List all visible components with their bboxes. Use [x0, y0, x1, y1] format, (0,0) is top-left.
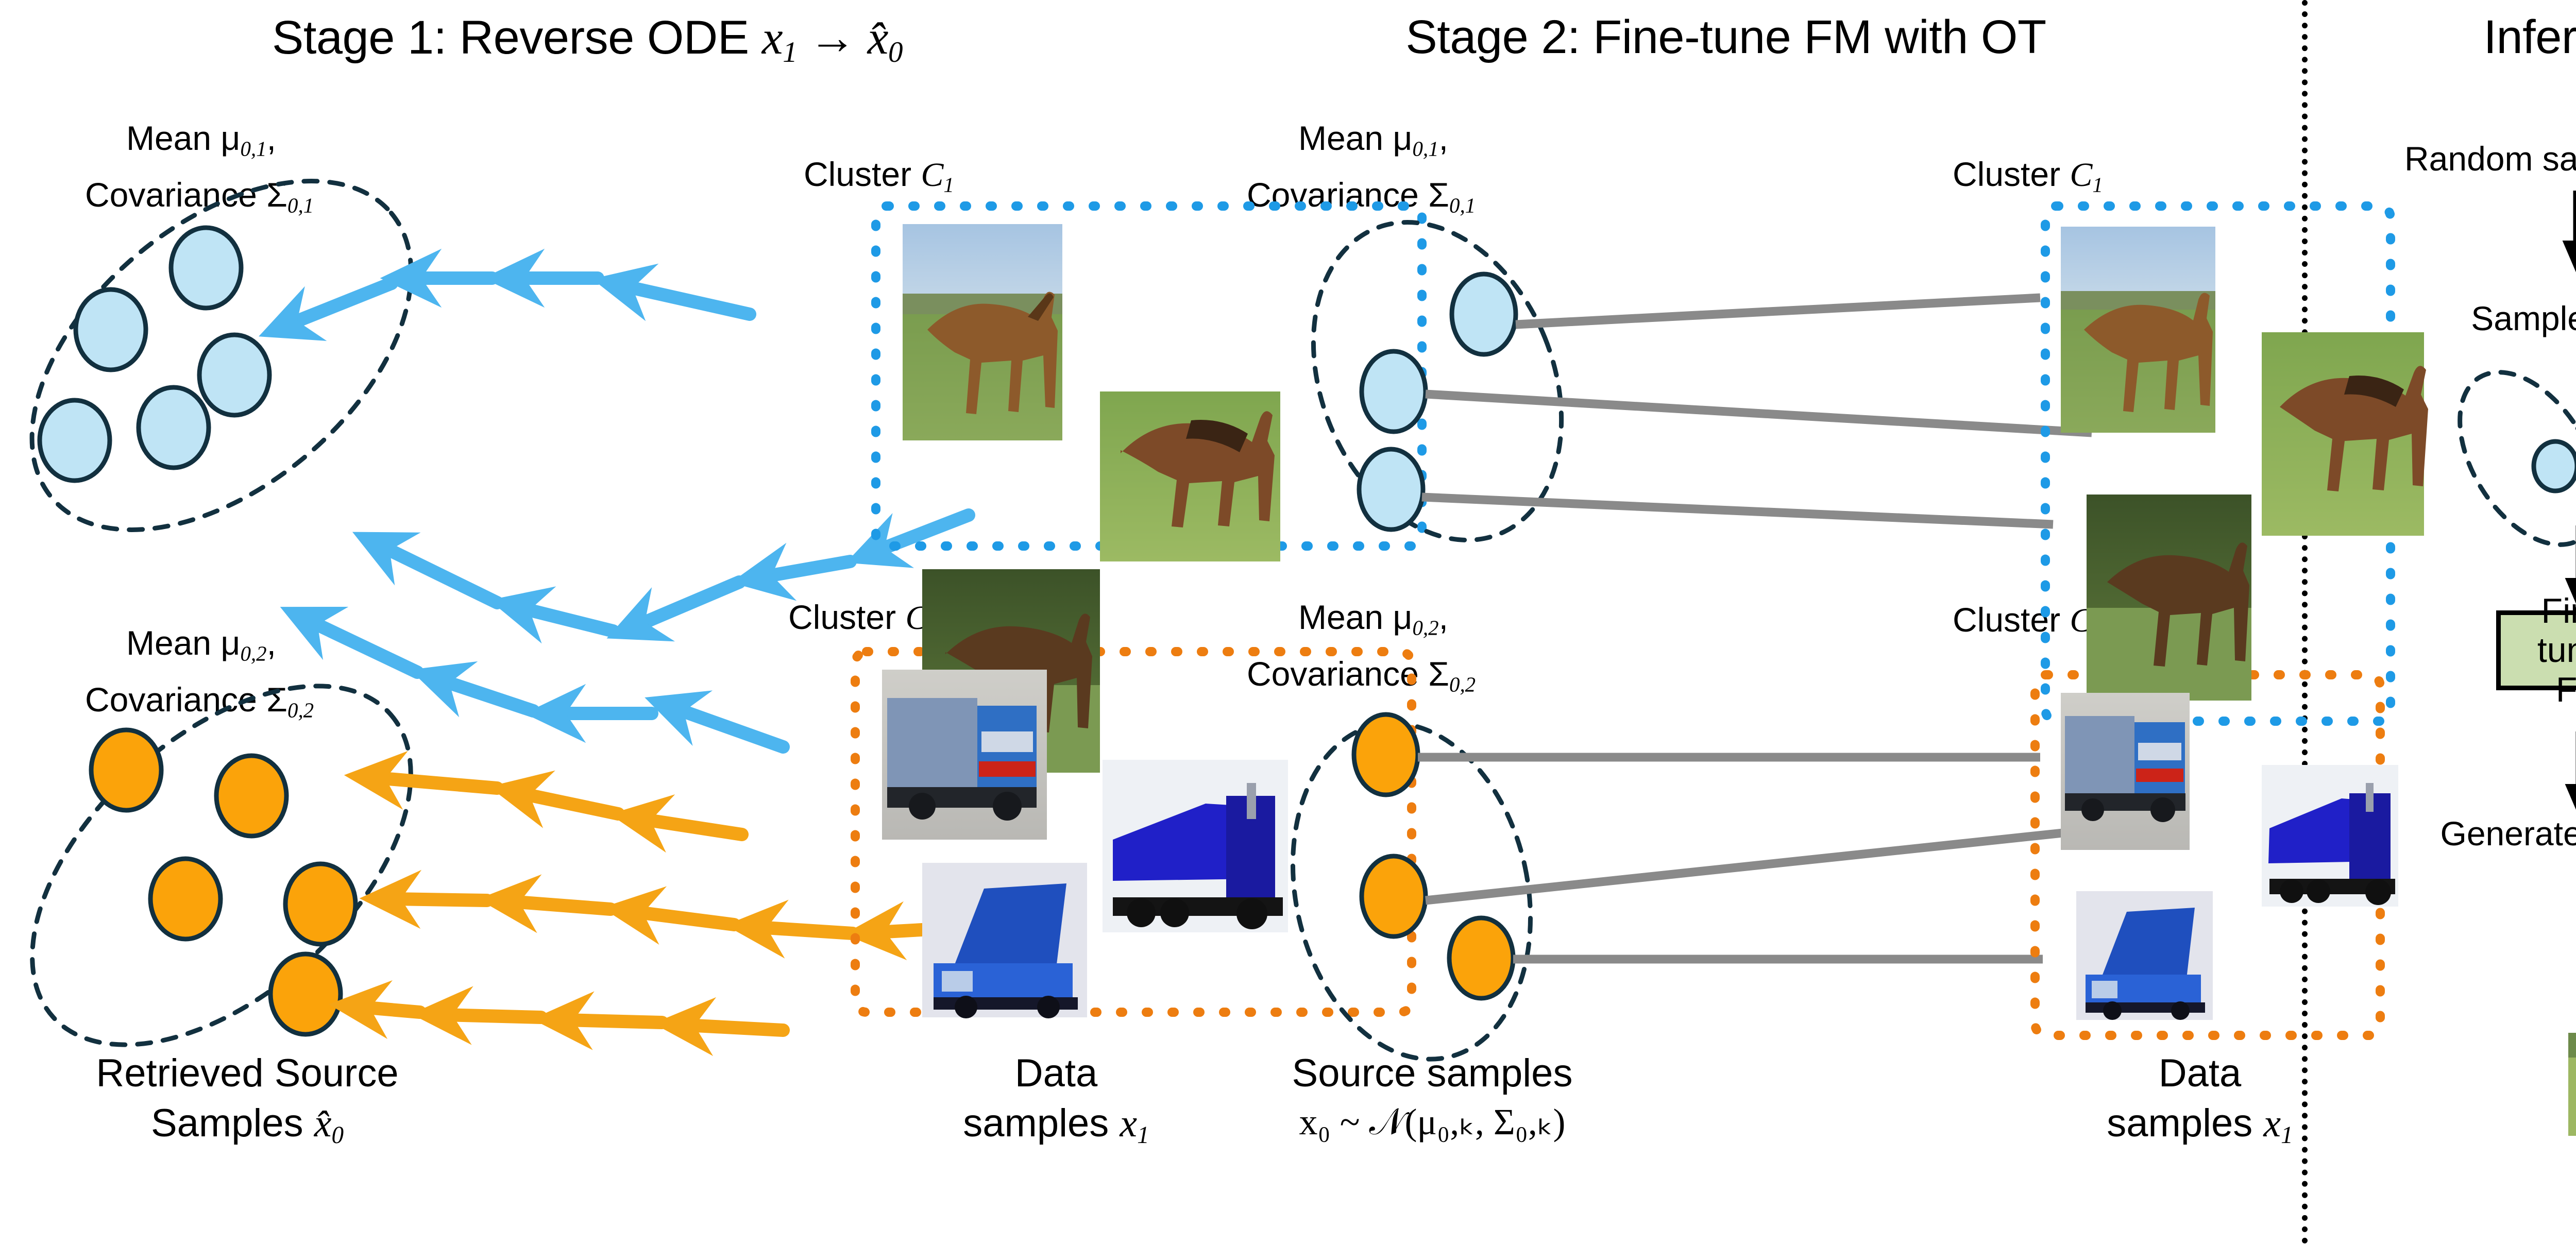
- stage1-source-dots-1: [40, 228, 269, 481]
- stage1-source-dots-2: [91, 730, 355, 1034]
- stage1-arrow-chain-top: [289, 278, 750, 325]
- stage1-c2-image-0: [882, 670, 1047, 840]
- stage1-c1-image-0: [903, 224, 1062, 440]
- stage2-c2-image-0: [2061, 693, 2190, 850]
- stage1-orange-chain-mid: [392, 899, 969, 933]
- stage1-graphics: [0, 0, 2576, 1244]
- stage1-c2-image-1: [1103, 760, 1288, 932]
- inference-sample-1: [2568, 1033, 2576, 1136]
- stage2-c2-image-1: [2262, 765, 2398, 907]
- stage1-c1-image-1: [1100, 391, 1280, 561]
- stage1-arrow-chain-mid: [381, 515, 969, 631]
- inference-noise-dot: [2534, 441, 2576, 491]
- stage2-c1-image-2: [2087, 495, 2251, 701]
- stage1-arrow-chain-bottom: [309, 621, 783, 747]
- stage2-c1-image-1: [2262, 332, 2428, 536]
- stage2-c1-image-0: [2061, 227, 2215, 433]
- stage1-c2-image-2: [922, 863, 1087, 1018]
- stage2-ot-links: [1418, 298, 2097, 959]
- stage2-c2-image-2: [2076, 891, 2213, 1020]
- stage1-orange-chain-bottom: [361, 1007, 783, 1030]
- stage1-orange-chain-top: [376, 778, 742, 834]
